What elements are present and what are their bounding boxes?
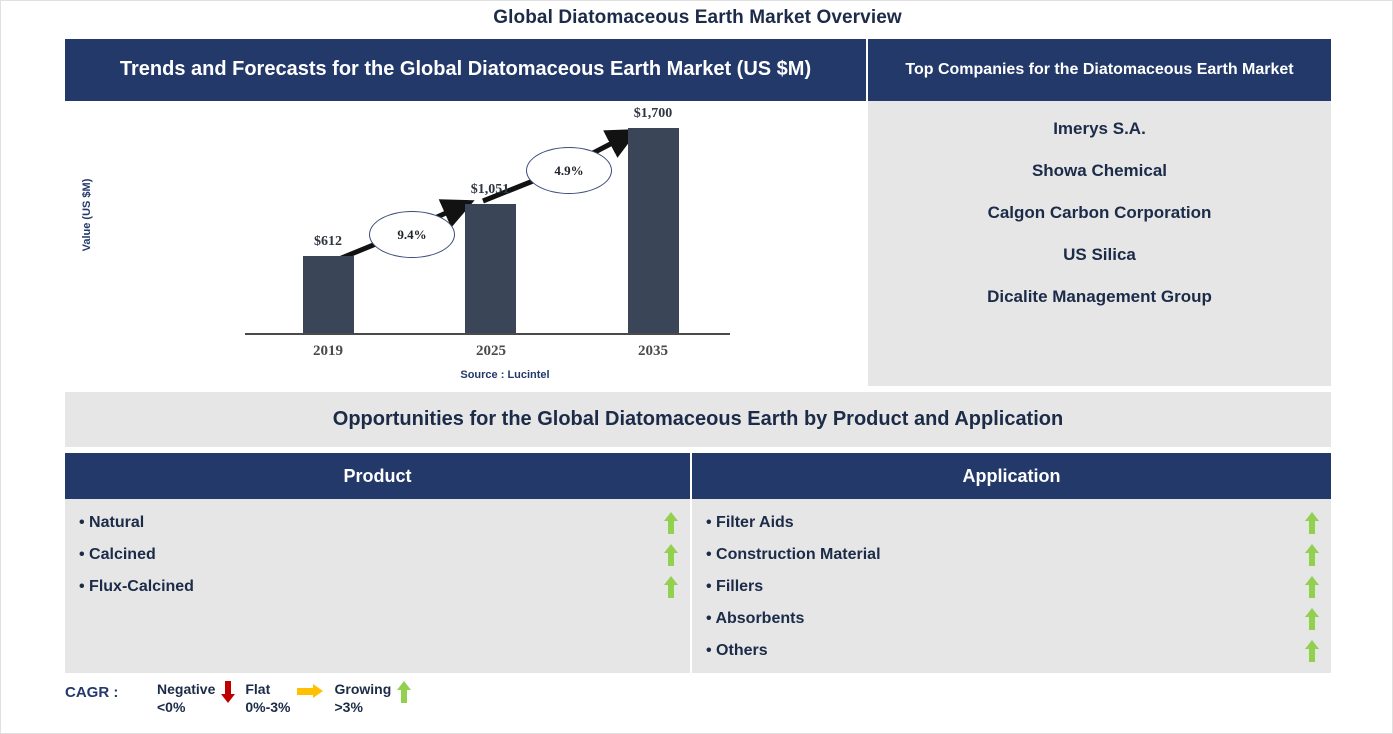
bar-value-2019: $612	[283, 234, 373, 250]
application-header: Application	[692, 453, 1331, 499]
cagr-legend-title: CAGR :	[65, 681, 157, 701]
arrow-up-icon	[664, 512, 678, 534]
application-item-label: • Construction Material	[706, 546, 881, 564]
opportunities-band-title: Opportunities for the Global Diatomaceou…	[333, 408, 1063, 431]
top-companies-panel: Top Companies for the Diatomaceous Earth…	[868, 39, 1331, 386]
bar-2035	[628, 128, 679, 333]
list-item: • Flux-Calcined	[65, 571, 690, 603]
arrow-up-icon	[1305, 608, 1319, 630]
application-item-label: • Absorbents	[706, 610, 804, 628]
opportunities-band: Opportunities for the Global Diatomaceou…	[65, 392, 1331, 447]
application-item-label: • Filter Aids	[706, 514, 794, 532]
legend-negative-range: <0%	[157, 699, 215, 717]
trends-panel: Trends and Forecasts for the Global Diat…	[65, 39, 866, 386]
bar-2025	[465, 204, 516, 333]
list-item: Dicalite Management Group	[987, 287, 1212, 307]
list-item: Imerys S.A.	[1053, 119, 1146, 139]
list-item: Showa Chemical	[1032, 161, 1167, 181]
x-tick-2025: 2025	[441, 343, 541, 360]
application-list: • Filter Aids • Construction Material • …	[692, 499, 1331, 667]
list-item: • Natural	[65, 507, 690, 539]
cagr-bubble-2025-2035: 4.9%	[526, 147, 612, 194]
bar-2019	[303, 256, 354, 333]
legend-growing-name: Growing	[335, 681, 392, 697]
arrow-up-icon	[664, 576, 678, 598]
list-item: • Filter Aids	[692, 507, 1331, 539]
arrow-up-icon	[664, 544, 678, 566]
list-item: • Calcined	[65, 539, 690, 571]
application-panel: Application • Filter Aids • Construction…	[692, 453, 1331, 673]
list-item: • Construction Material	[692, 539, 1331, 571]
cagr-legend: CAGR : Negative <0% Flat 0%-3% Growing >…	[65, 681, 411, 716]
top-companies-list: Imerys S.A. Showa Chemical Calgon Carbon…	[868, 101, 1331, 386]
arrow-up-icon	[1305, 576, 1319, 598]
list-item: • Fillers	[692, 571, 1331, 603]
legend-negative-name: Negative	[157, 681, 215, 697]
legend-flat-name: Flat	[245, 681, 270, 697]
list-item: Calgon Carbon Corporation	[988, 203, 1212, 223]
application-item-label: • Others	[706, 642, 768, 660]
chart-source-note: Source : Lucintel	[405, 369, 605, 381]
legend-flat-text: Flat 0%-3%	[245, 681, 290, 716]
arrow-up-icon	[397, 681, 411, 703]
y-axis-label: Value (US $M)	[81, 155, 93, 275]
x-tick-2035: 2035	[603, 343, 703, 360]
list-item: • Absorbents	[692, 603, 1331, 635]
legend-growing-range: >3%	[335, 699, 392, 717]
legend-item-flat: Flat 0%-3%	[245, 681, 322, 716]
bar-chart: Value (US $M) $612 $1,051	[65, 101, 866, 386]
infographic-canvas: Global Diatomaceous Earth Market Overvie…	[0, 0, 1393, 734]
arrow-right-icon	[297, 684, 323, 698]
trends-panel-header: Trends and Forecasts for the Global Diat…	[65, 39, 866, 101]
cagr-bubble-2019-2025: 9.4%	[369, 211, 455, 258]
page-title: Global Diatomaceous Earth Market Overvie…	[1, 7, 1393, 29]
legend-negative-text: Negative <0%	[157, 681, 215, 716]
bar-value-2025: $1,051	[445, 182, 535, 198]
list-item: US Silica	[1063, 245, 1136, 265]
x-axis-line	[245, 333, 730, 335]
x-tick-2019: 2019	[278, 343, 378, 360]
arrow-up-icon	[1305, 544, 1319, 566]
product-item-label: • Calcined	[79, 546, 156, 564]
legend-item-negative: Negative <0%	[157, 681, 235, 716]
product-panel: Product • Natural • Calcined • Flux-Calc…	[65, 453, 690, 673]
product-header: Product	[65, 453, 690, 499]
product-item-label: • Natural	[79, 514, 144, 532]
list-item: • Others	[692, 635, 1331, 667]
legend-item-growing: Growing >3%	[335, 681, 412, 716]
legend-growing-text: Growing >3%	[335, 681, 392, 716]
bar-value-2035: $1,700	[608, 106, 698, 122]
product-list: • Natural • Calcined • Flux-Calcined	[65, 499, 690, 603]
arrow-down-icon	[221, 681, 235, 703]
product-item-label: • Flux-Calcined	[79, 578, 194, 596]
legend-flat-range: 0%-3%	[245, 699, 290, 717]
arrow-up-icon	[1305, 640, 1319, 662]
top-companies-header: Top Companies for the Diatomaceous Earth…	[868, 39, 1331, 101]
arrow-up-icon	[1305, 512, 1319, 534]
application-item-label: • Fillers	[706, 578, 763, 596]
